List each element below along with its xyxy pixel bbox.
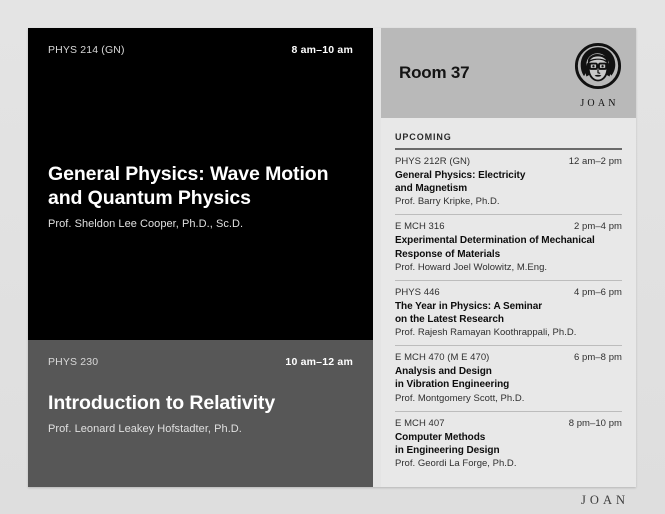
next-event-body: Introduction to Relativity Prof. Leonard…	[48, 392, 353, 469]
list-item-time: 8 pm–10 pm	[561, 418, 622, 429]
list-item[interactable]: PHYS 446 4 pm–6 pm The Year in Physics: …	[395, 281, 622, 346]
list-item-title-line-2: Response of Materials	[395, 249, 500, 260]
list-item-presenter: Prof. Geordi La Forge, Ph.D.	[395, 458, 622, 469]
list-item[interactable]: E MCH 316 2 pm–4 pm Experimental Determi…	[395, 215, 622, 280]
list-item-time: 2 pm–4 pm	[566, 221, 622, 232]
list-item-title-line-1: The Year in Physics: A Seminar	[395, 301, 542, 312]
next-event-time: 10 am–12 am	[285, 356, 353, 368]
list-item-time: 12 am–2 pm	[561, 156, 622, 167]
device-footer: JOAN	[0, 487, 665, 514]
current-event-body: General Physics: Wave Motion and Quantum…	[48, 163, 353, 322]
device-brand-wordmark: JOAN	[577, 493, 629, 508]
info-column: Room 37	[381, 28, 636, 487]
list-item-presenter: Prof. Montgomery Scott, Ph.D.	[395, 393, 622, 404]
list-item-meta: E MCH 470 (M E 470) 6 pm–8 pm	[395, 352, 622, 363]
next-event-presenter: Prof. Leonard Leakey Hofstadter, Ph.D.	[48, 423, 353, 435]
list-item-title: General Physics: Electricity and Magneti…	[395, 169, 622, 195]
list-item-title-line-2: on the Latest Research	[395, 314, 504, 325]
next-event-title: Introduction to Relativity	[48, 392, 353, 416]
list-item-meta: PHYS 212R (GN) 12 am–2 pm	[395, 156, 622, 167]
upcoming-section: UPCOMING PHYS 212R (GN) 12 am–2 pm Gener…	[381, 118, 636, 487]
upcoming-list: PHYS 212R (GN) 12 am–2 pm General Physic…	[395, 150, 622, 476]
list-item-meta: PHYS 446 4 pm–6 pm	[395, 287, 622, 298]
next-event-code: PHYS 230	[48, 356, 98, 368]
list-item-title-line-2: in Vibration Engineering	[395, 379, 509, 390]
list-item-code: PHYS 212R (GN)	[395, 156, 470, 167]
list-item-code: E MCH 316	[395, 221, 445, 232]
list-item-meta: E MCH 316 2 pm–4 pm	[395, 221, 622, 232]
list-item-title-line-1: Computer Methods	[395, 432, 485, 443]
list-item-title: The Year in Physics: A Seminar on the La…	[395, 300, 622, 326]
list-item[interactable]: E MCH 407 8 pm–10 pm Computer Methods in…	[395, 412, 622, 476]
list-item-time: 6 pm–8 pm	[566, 352, 622, 363]
list-item-title-line-1: General Physics: Electricity	[395, 170, 525, 181]
list-item-code: PHYS 446	[395, 287, 440, 298]
list-item-title-line-1: Analysis and Design	[395, 366, 492, 377]
list-item-code: E MCH 470 (M E 470)	[395, 352, 489, 363]
device-frame: PHYS 214 (GN) 8 am–10 am General Physics…	[0, 0, 665, 514]
brand-logo: JOAN	[574, 42, 622, 109]
brand-wordmark: JOAN	[577, 98, 618, 109]
event-column: PHYS 214 (GN) 8 am–10 am General Physics…	[28, 28, 373, 487]
list-item-title: Computer Methods in Engineering Design	[395, 431, 622, 457]
upcoming-label: UPCOMING	[395, 132, 622, 148]
room-display-screen: PHYS 214 (GN) 8 am–10 am General Physics…	[28, 28, 636, 487]
current-event-code: PHYS 214 (GN)	[48, 44, 125, 56]
current-event-title-line-2: and Quantum Physics	[48, 187, 251, 209]
list-item-title-line-2: and Magnetism	[395, 183, 467, 194]
list-item-time: 4 pm–6 pm	[566, 287, 622, 298]
current-event-block[interactable]: PHYS 214 (GN) 8 am–10 am General Physics…	[28, 28, 373, 340]
list-item-presenter: Prof. Howard Joel Wolowitz, M.Eng.	[395, 262, 622, 273]
panel-divider	[373, 28, 381, 487]
current-event-presenter: Prof. Sheldon Lee Cooper, Ph.D., Sc.D.	[48, 218, 353, 230]
list-item-title-line-2: in Engineering Design	[395, 445, 500, 456]
current-event-title-line-1: General Physics: Wave Motion	[48, 163, 328, 185]
current-event-time: 8 am–10 am	[291, 44, 353, 56]
room-header: Room 37	[381, 28, 636, 118]
list-item-title: Analysis and Design in Vibration Enginee…	[395, 365, 622, 391]
list-item-presenter: Prof. Rajesh Ramayan Koothrappali, Ph.D.	[395, 327, 622, 338]
list-item-presenter: Prof. Barry Kripke, Ph.D.	[395, 196, 622, 207]
current-event-meta: PHYS 214 (GN) 8 am–10 am	[48, 44, 353, 56]
next-event-meta: PHYS 230 10 am–12 am	[48, 356, 353, 368]
room-title: Room 37	[399, 63, 469, 83]
list-item[interactable]: PHYS 212R (GN) 12 am–2 pm General Physic…	[395, 150, 622, 215]
list-item-title: Experimental Determination of Mechanical…	[395, 234, 622, 260]
joan-face-logo-icon	[574, 42, 622, 95]
list-item-code: E MCH 407	[395, 418, 445, 429]
list-item[interactable]: E MCH 470 (M E 470) 6 pm–8 pm Analysis a…	[395, 346, 622, 411]
list-item-meta: E MCH 407 8 pm–10 pm	[395, 418, 622, 429]
next-event-block[interactable]: PHYS 230 10 am–12 am Introduction to Rel…	[28, 340, 373, 487]
list-item-title-line-1: Experimental Determination of Mechanical	[395, 235, 595, 246]
current-event-title: General Physics: Wave Motion and Quantum…	[48, 163, 353, 211]
